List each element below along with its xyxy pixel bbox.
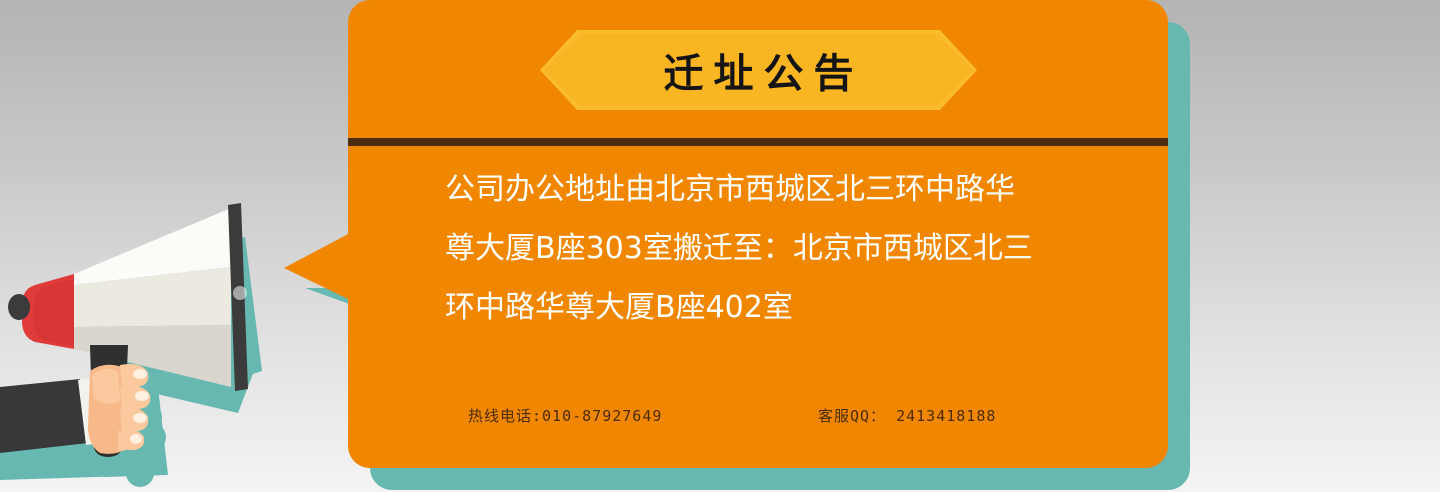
fingernail-1 [133,369,147,379]
announcement-card: 迁址公告 公司办公地址由北京市西城区北三环中路华 尊大厦B座303室搬迁至：北京… [348,0,1168,468]
divider [348,138,1168,146]
speech-bubble-tail [284,233,350,300]
suit-sleeve [0,379,88,453]
hand-shadow-knuckle-4 [126,459,154,487]
announcement-line: 尊大厦B座303室搬迁至：北京市西城区北三 [445,219,1105,278]
qq-text: 客服QQ： 2413418188 [818,405,996,426]
announcement-body: 公司办公地址由北京市西城区北三环中路华 尊大厦B座303室搬迁至：北京市西城区北… [445,160,1105,337]
fingernail-3 [133,413,147,423]
megaphone-rim-highlight [233,286,247,300]
megaphone-illustration [0,175,320,492]
page-title: 迁址公告 [540,30,977,110]
megaphone-nub [8,294,30,320]
fingernail-2 [135,391,149,401]
hand-thumb [92,369,120,404]
announcement-line: 环中路华尊大厦B座402室 [445,278,1105,337]
fingernail-4 [130,434,142,444]
footer-contacts: 热线电话:010-87927649 客服QQ： 2413418188 [468,405,1068,426]
hotline-text: 热线电话:010-87927649 [468,405,818,426]
announcement-line: 公司办公地址由北京市西城区北三环中路华 [445,160,1105,219]
